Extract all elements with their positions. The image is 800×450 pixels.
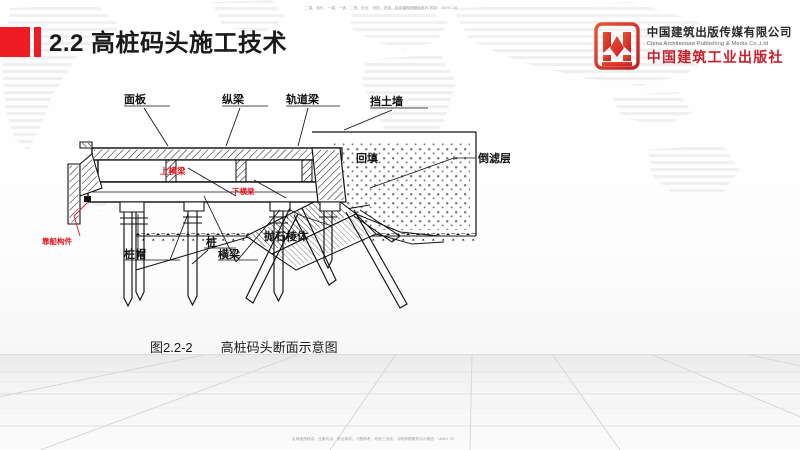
label-inverted-filter: 倒滤层	[477, 151, 510, 165]
label-longitudinal: 纵梁	[222, 92, 245, 106]
figure-caption-number: 图2.2-2	[150, 340, 193, 355]
watermark-bottom: 名师面授精讲、全套内讲、考点串讲、习题精考、考前三页纸、冲刺押题服务QQ/微信：…	[292, 437, 454, 442]
label-panel: 面板	[124, 92, 147, 106]
title-accent-bar	[34, 27, 41, 57]
label-retaining-wall: 挡土墙	[370, 94, 403, 108]
label-riprap-prism: 抛石棱体	[264, 229, 309, 243]
publisher-company-en: China Architecture Publishing & Media Co…	[647, 40, 792, 49]
publisher-company-cn: 中国建筑出版传媒有限公司	[647, 26, 792, 40]
figure-caption-text: 高桩码头断面示意图	[221, 340, 338, 355]
label-rail-beam: 轨道梁	[286, 92, 320, 106]
label-pile: 桩	[206, 235, 217, 249]
wharf-cross-section-diagram: 面板 纵梁 轨道梁 挡土墙 回填 倒滤层 抛石棱体 桩帽 横梁 桩 上横梁 下横…	[40, 84, 510, 324]
label-backfill: 回填	[356, 151, 378, 165]
page-title: 2.2 高桩码头施工技术	[49, 23, 287, 58]
floor-horizon-line	[0, 354, 800, 355]
label-pile-cap: 桩帽	[124, 247, 146, 261]
publisher-logo: 中国建筑出版传媒有限公司 China Architecture Publishi…	[594, 19, 792, 73]
label-lower-cross-beam: 下横梁	[232, 186, 255, 196]
label-cross-beam: 横梁	[218, 247, 241, 261]
label-upper-cross-beam: 上横梁	[160, 166, 186, 176]
open-book-logo-icon	[594, 22, 640, 70]
watermark-top: 二建、造价、一建、一造、二造、安全、消防、咨询、检测课程押题及各科/答疑：384…	[305, 6, 457, 11]
label-berthing-member: 靠船构件	[42, 236, 72, 246]
publisher-press-cn: 中国建筑工业出版社	[647, 49, 792, 67]
perspective-floor-decoration	[0, 354, 800, 450]
title-accent-block	[0, 27, 30, 57]
publisher-logo-text: 中国建筑出版传媒有限公司 China Architecture Publishi…	[647, 26, 792, 67]
figure-caption: 图2.2-2高桩码头断面示意图	[150, 337, 338, 356]
slide-canvas: 2.2 高桩码头施工技术 二建、造价、一建、一造、二造、安全、消防、咨询、检测课…	[0, 0, 800, 450]
